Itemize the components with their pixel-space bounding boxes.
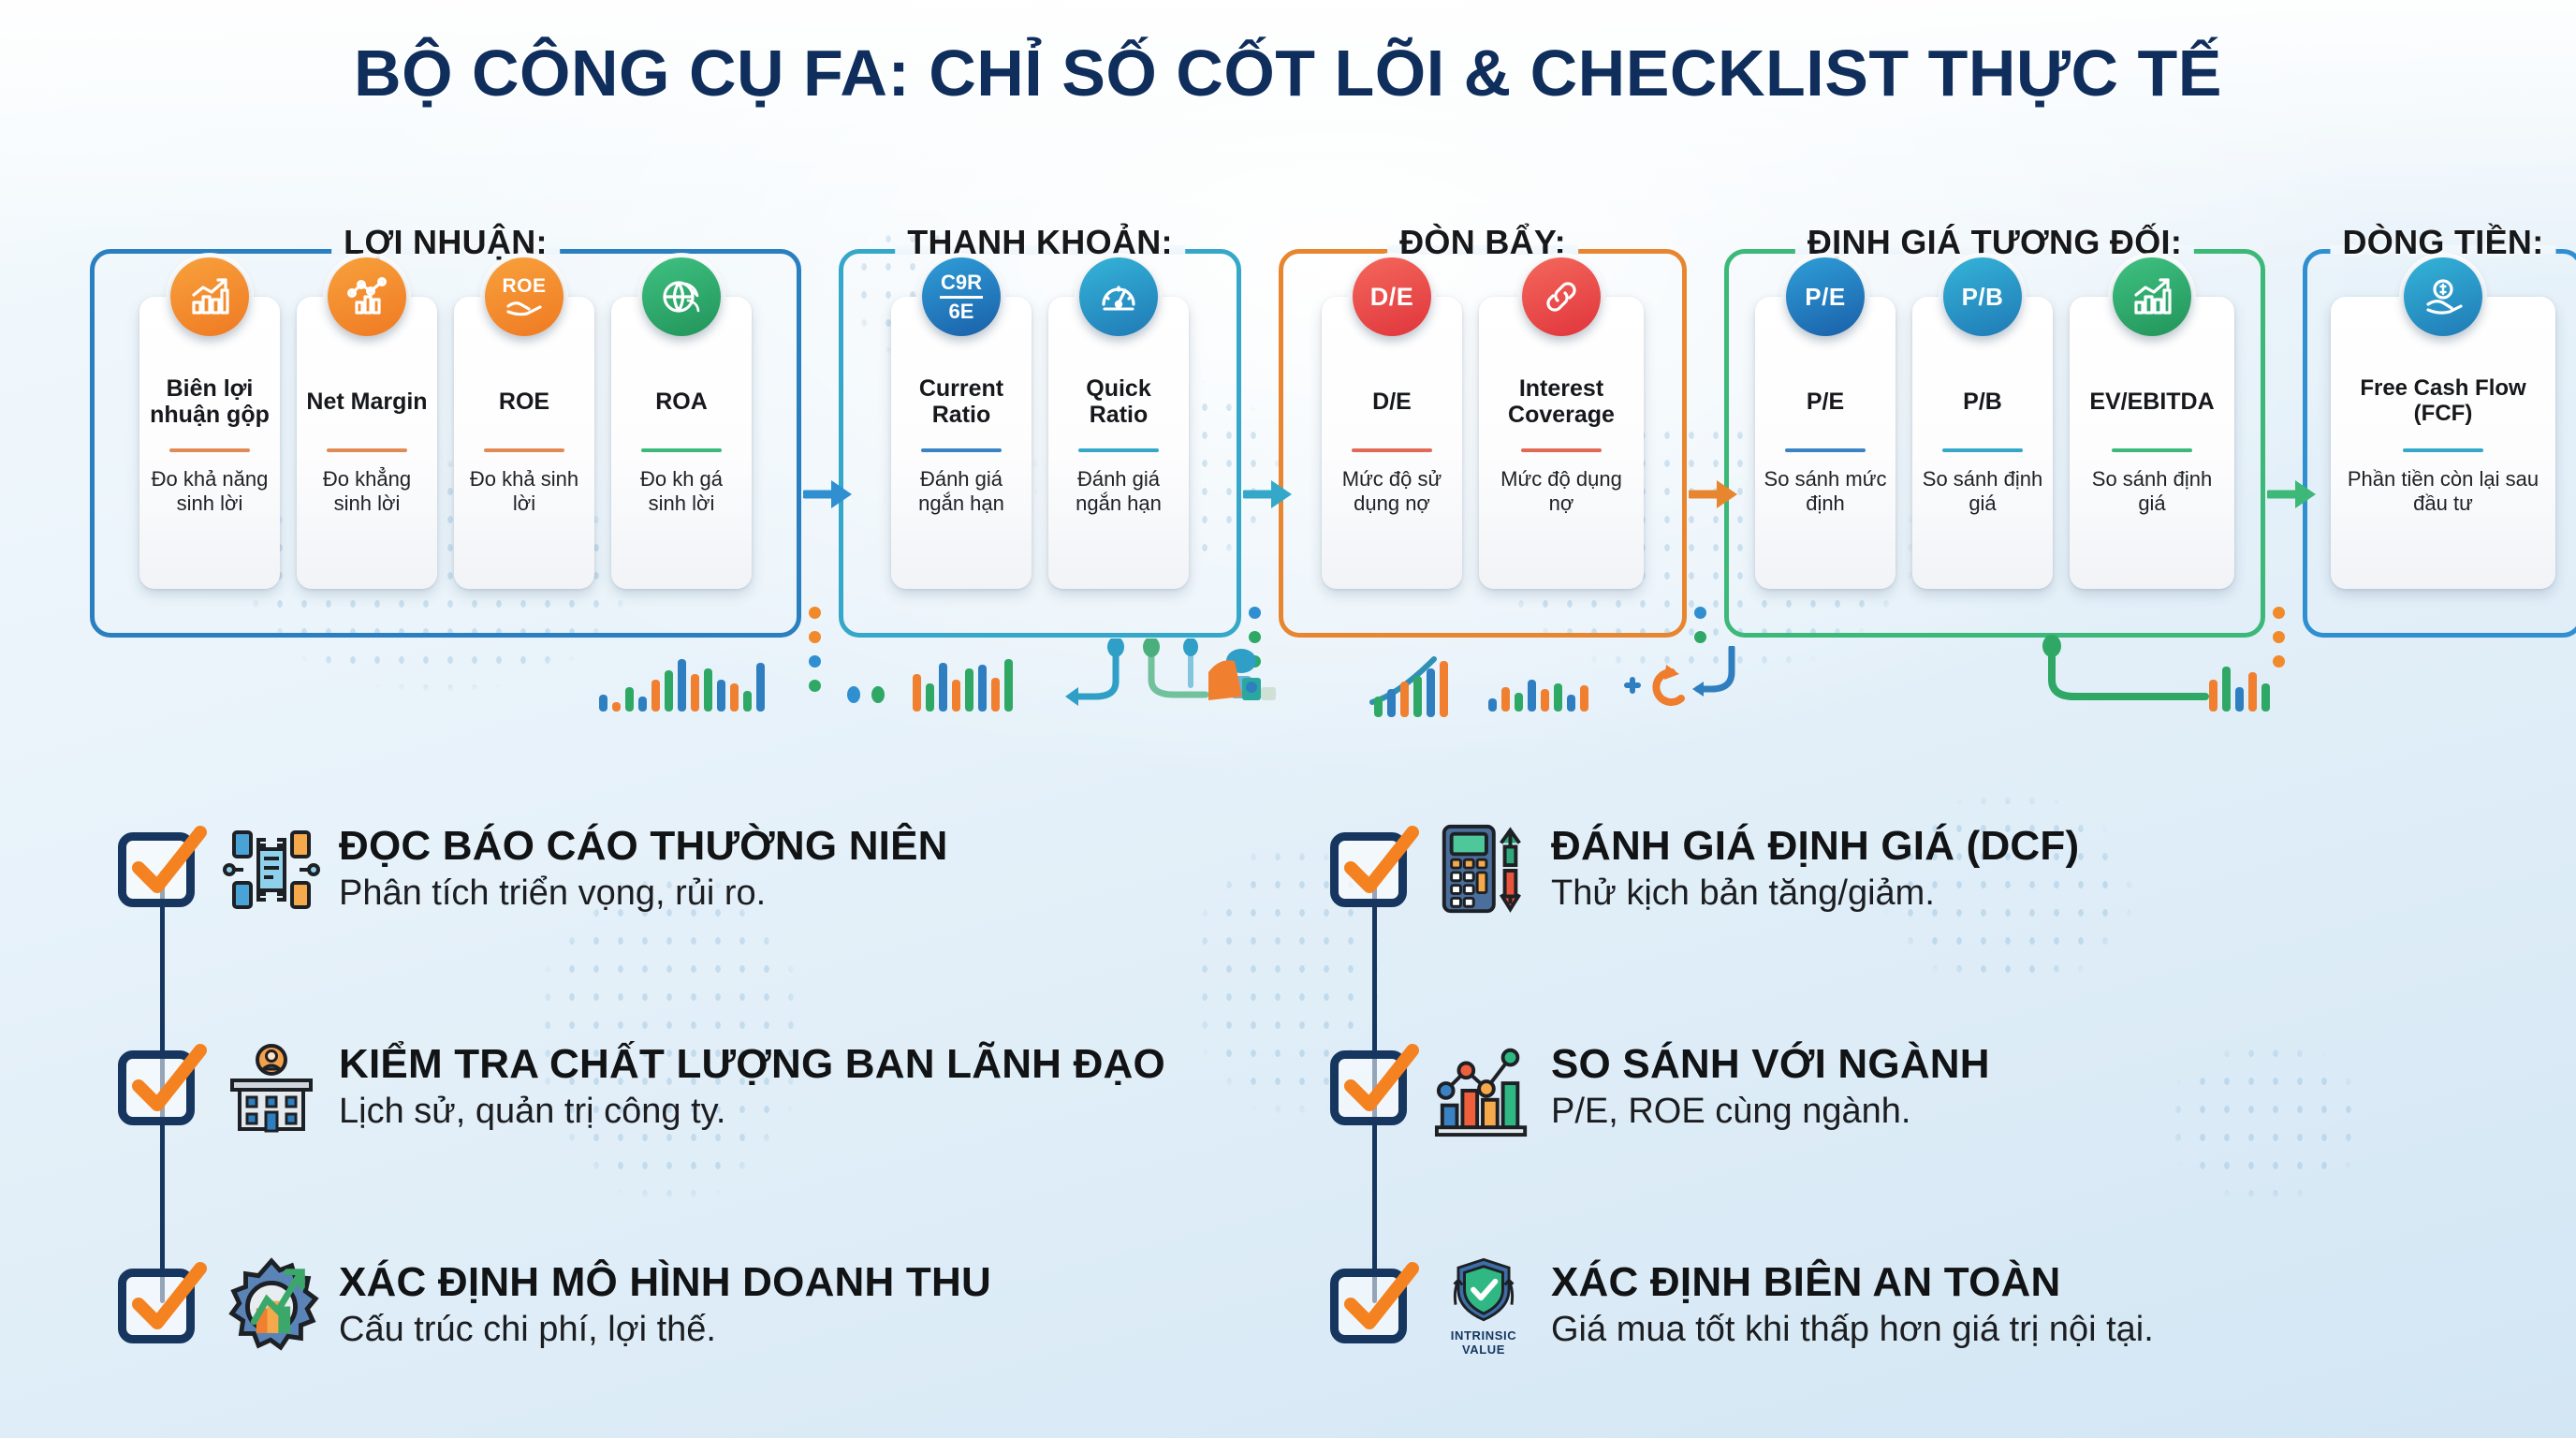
deco-bar <box>1528 680 1536 712</box>
connector-dot <box>809 655 821 668</box>
metric-card-divider <box>1785 448 1866 452</box>
deco-bar <box>756 663 765 712</box>
connector-dot <box>2273 607 2285 619</box>
metric-card-description: Đo kh gá sinh lời <box>611 467 752 517</box>
metric-card[interactable]: Quick RatioĐánh giá ngắn hạn <box>1048 297 1189 589</box>
ratio-formula-icon: C9R 6E <box>922 257 1001 336</box>
deco-bar <box>1501 687 1510 712</box>
metric-group-5: DÒNG TIỀN: Free Cash Flow (FCF)Phần tiền… <box>2303 249 2576 638</box>
deco-bar <box>1554 683 1562 712</box>
checklist-item-title: XÁC ĐỊNH MÔ HÌNH DOANH THU <box>339 1261 991 1304</box>
metric-card-divider <box>921 448 1002 452</box>
checklist-item-subtitle: P/E, ROE cùng ngành. <box>1551 1093 1990 1132</box>
group-connector-arrow <box>1243 476 1294 513</box>
deco-bar <box>1488 698 1497 712</box>
metric-card-description: Đo khả năng sinh lời <box>139 467 280 517</box>
globe-chart-icon <box>642 257 721 336</box>
metric-card-description: Đánh giá ngắn hạn <box>1048 467 1189 517</box>
metric-card-divider <box>2403 448 2483 452</box>
scatter-bar-icon <box>328 257 406 336</box>
deco-bar <box>913 674 921 712</box>
checklist-item-subtitle: Giá mua tốt khi thấp hơn giá trị nội tại… <box>1551 1311 2154 1350</box>
group-connector-arrow <box>803 476 854 513</box>
connector-dot-column <box>1694 607 1706 643</box>
calculator-arrows-icon <box>1433 819 1534 920</box>
check-icon <box>1332 821 1422 911</box>
deco-bar <box>1515 693 1523 712</box>
metric-card[interactable]: Biên lợi nhuận gộpĐo khả năng sinh lời <box>139 297 280 589</box>
connector-dot <box>2273 655 2285 668</box>
checklist-item-title: SO SÁNH VỚI NGÀNH <box>1551 1043 1990 1086</box>
group-title: THANH KHOẢN: <box>901 223 1178 262</box>
metric-card[interactable]: C9R 6ECurrent RatioĐánh giá ngắn hạn <box>891 297 1032 589</box>
deco-bar <box>730 683 739 712</box>
deco-bar <box>717 680 725 712</box>
checklist-text: KIỂM TRA CHẤT LƯỢNG BAN LÃNH ĐẠOLịch sử,… <box>339 1043 1165 1133</box>
group-cards: Biên lợi nhuận gộpĐo khả năng sinh lời N… <box>95 297 797 589</box>
connector-dot-column <box>809 607 821 692</box>
deco-bar <box>704 668 712 712</box>
intrinsic-value-label: INTRINSIC VALUE <box>1433 1328 1534 1357</box>
page-title: BỘ CÔNG CỤ FA: CHỈ SỐ CỐT LÕI & CHECKLIS… <box>0 36 2576 110</box>
connector-dot-column <box>2273 607 2285 668</box>
metric-card-title: Current Ratio <box>891 359 1032 445</box>
deco-bar <box>1413 676 1422 717</box>
metric-card-title: Biên lợi nhuận gộp <box>139 359 280 445</box>
deco-bar <box>1440 661 1448 717</box>
connector-dot <box>809 607 821 619</box>
deco-bar <box>1387 689 1396 717</box>
checklist-column-right: ĐÁNH GIÁ ĐỊNH GIÁ (DCF)Thử kịch bản tăng… <box>1325 760 2481 1416</box>
check-icon <box>120 1257 210 1347</box>
metric-card-description: Phần tiền còn lại sau đầu tư <box>2331 467 2555 517</box>
metric-card-title: P/E <box>1801 359 1850 445</box>
deco-bar <box>691 674 699 712</box>
metric-card-divider <box>641 448 722 452</box>
check-icon <box>120 1039 210 1129</box>
checkbox-checked[interactable] <box>1330 1045 1416 1131</box>
deco-bar <box>1374 697 1383 717</box>
metric-card-description: So sánh mức định <box>1755 467 1895 517</box>
deco-bar <box>1004 659 1013 712</box>
checklist-item-subtitle: Phân tích triển vọng, rủi ro. <box>339 874 948 914</box>
corporate-building-icon <box>221 1037 322 1138</box>
checkbox-checked[interactable] <box>118 1045 204 1131</box>
checklist-text: XÁC ĐỊNH MÔ HÌNH DOANH THUCấu trúc chi p… <box>339 1261 991 1351</box>
group-title: ĐỊNH GIÁ TƯƠNG ĐỐI: <box>1802 223 2188 262</box>
metric-card-divider <box>1521 448 1602 452</box>
cash-hand-icon <box>2404 257 2482 336</box>
checklist-item-subtitle: Thử kịch bản tăng/giảm. <box>1551 874 2079 914</box>
metric-card-description: Đánh giá ngắn hạn <box>891 467 1032 517</box>
deco-bar <box>1400 682 1409 717</box>
deco-bar <box>939 663 947 712</box>
shield-check-icon: INTRINSIC VALUE <box>1433 1255 1534 1357</box>
checklist-item[interactable]: ĐỌC BÁO CÁO THƯỜNG NIÊNPhân tích triển v… <box>112 760 1268 978</box>
deco-bar <box>2261 683 2270 712</box>
connector-dot <box>809 631 821 643</box>
group-cards: P/EP/ESo sánh mức địnhP/BP/BSo sánh định… <box>1729 297 2261 589</box>
bar-growth-icon <box>170 257 249 336</box>
deco-bar <box>625 687 634 712</box>
metric-card-divider <box>1942 448 2023 452</box>
checklist-item-subtitle: Lịch sử, quản trị công ty. <box>339 1093 1165 1132</box>
checklist-item[interactable]: XÁC ĐỊNH MÔ HÌNH DOANH THUCấu trúc chi p… <box>112 1196 1268 1415</box>
metric-card-title: P/B <box>1957 359 2008 445</box>
bar-growth-icon <box>2113 257 2191 336</box>
check-icon <box>1332 1039 1422 1129</box>
checklist-text: ĐÁNH GIÁ ĐỊNH GIÁ (DCF)Thử kịch bản tăng… <box>1551 825 2079 915</box>
connector-dot <box>809 680 821 692</box>
metric-card-divider <box>327 448 407 452</box>
checklist-column-left: ĐỌC BÁO CÁO THƯỜNG NIÊNPhân tích triển v… <box>112 760 1268 1416</box>
deco-bar <box>743 691 752 712</box>
checklist-item-title: ĐÁNH GIÁ ĐỊNH GIÁ (DCF) <box>1551 825 2079 868</box>
metric-card-title: Net Margin <box>300 359 432 445</box>
checklist-item[interactable]: KIỂM TRA CHẤT LƯỢNG BAN LÃNH ĐẠOLịch sử,… <box>112 978 1268 1196</box>
deco-bar <box>1427 668 1435 717</box>
metric-card-divider <box>169 448 250 452</box>
metric-card-description: Mức độ sử dụng nợ <box>1322 467 1462 517</box>
deco-bar <box>991 678 1000 712</box>
deco-bar <box>678 659 686 712</box>
deco-bar <box>2248 672 2257 712</box>
group-connector-arrow <box>2267 476 2318 513</box>
gear-growth-icon <box>221 1255 322 1357</box>
bar-line-compare-icon <box>1433 1037 1534 1138</box>
deco-bar <box>665 670 673 712</box>
metric-group-1: LỢI NHUẬN: Biên lợi nhuận gộpĐo khả năng… <box>90 249 801 638</box>
metric-card-title: D/E <box>1367 359 1417 445</box>
deco-bars-2 <box>913 655 1013 712</box>
metric-card-title: Free Cash Flow (FCF) <box>2331 359 2555 445</box>
roe-hand-icon: ROE <box>485 257 563 336</box>
connector-dot <box>1249 607 1261 619</box>
metric-card-divider <box>1078 448 1159 452</box>
checklist-item-title: XÁC ĐỊNH BIÊN AN TOÀN <box>1551 1261 2154 1304</box>
checklist-item[interactable]: INTRINSIC VALUEXÁC ĐỊNH BIÊN AN TOÀNGiá … <box>1325 1196 2481 1415</box>
document-network-icon <box>221 819 322 920</box>
metric-card[interactable]: P/BP/BSo sánh định giá <box>1912 297 2053 589</box>
checklist-text: XÁC ĐỊNH BIÊN AN TOÀNGiá mua tốt khi thấ… <box>1551 1261 2154 1351</box>
deco-bar <box>965 668 973 712</box>
deco-bars-1 <box>599 655 765 712</box>
metric-group-2: THANH KHOẢN: C9R 6ECurrent RatioĐánh giá… <box>839 249 1241 638</box>
group-title: DÒNG TIỀN: <box>2337 223 2550 262</box>
connector-dot <box>2273 631 2285 643</box>
metric-groups-row: LỢI NHUẬN: Biên lợi nhuận gộpĐo khả năng… <box>90 225 2492 637</box>
check-icon <box>120 821 210 911</box>
infographic-canvas: BỘ CÔNG CỤ FA: CHỈ SỐ CỐT LÕI & CHECKLIS… <box>0 0 2576 1438</box>
group-cards: D/ED/EMức độ sử dụng nợ Interest Coverag… <box>1283 297 1682 589</box>
checklist-item[interactable]: SO SÁNH VỚI NGÀNHP/E, ROE cùng ngành. <box>1325 978 2481 1196</box>
deco-bar <box>978 665 987 712</box>
metric-group-4: ĐỊNH GIÁ TƯƠNG ĐỐI:P/EP/ESo sánh mức địn… <box>1724 249 2265 638</box>
deco-bars-5 <box>2022 655 2270 712</box>
metric-card-description: Đo khả sinh lời <box>454 467 594 517</box>
metric-card-description: So sánh định giá <box>1912 467 2053 517</box>
checklist-item-subtitle: Cấu trúc chi phí, lợi thế. <box>339 1311 991 1350</box>
checklist-item-title: KIỂM TRA CHẤT LƯỢNG BAN LÃNH ĐẠO <box>339 1043 1165 1086</box>
deco-bar <box>638 697 647 712</box>
metric-card[interactable]: Net MarginĐo khẳng sinh lời <box>297 297 437 589</box>
metric-card[interactable]: ROE ROEĐo khả sinh lời <box>454 297 594 589</box>
metric-card-divider <box>2112 448 2192 452</box>
group-connector-arrow <box>1689 476 1739 513</box>
checklist-section: ĐỌC BÁO CÁO THƯỜNG NIÊNPhân tích triển v… <box>112 760 2481 1416</box>
connector-dot <box>1694 607 1706 619</box>
metric-card-title: ROA <box>650 359 713 445</box>
checkbox-checked[interactable] <box>118 1263 204 1349</box>
deco-bars-4 <box>1488 655 1588 712</box>
checkbox-checked[interactable] <box>118 827 204 913</box>
metric-card[interactable]: Interest CoverageMức độ dụng nợ <box>1479 297 1644 589</box>
group-cards: Free Cash Flow (FCF)Phần tiền còn lại sa… <box>2307 297 2576 589</box>
metric-card[interactable]: ROAĐo kh gá sinh lời <box>611 297 752 589</box>
connector-dot <box>1694 631 1706 643</box>
deco-bar <box>1567 695 1575 712</box>
checklist-item[interactable]: ĐÁNH GIÁ ĐỊNH GIÁ (DCF)Thử kịch bản tăng… <box>1325 760 2481 978</box>
metric-card-divider <box>1352 448 1432 452</box>
metric-card-description: Mức độ dụng nợ <box>1479 467 1644 517</box>
checklist-item-title: ĐỌC BÁO CÁO THƯỜNG NIÊN <box>339 825 948 868</box>
metric-card-title: ROE <box>493 359 555 445</box>
metric-card-title: EV/EBITDA <box>2084 359 2219 445</box>
deco-cluster-icon <box>1193 646 1296 716</box>
deco-bar <box>651 680 660 712</box>
metric-card-description: Đo khẳng sinh lời <box>297 467 437 517</box>
deco-dots-1 <box>842 655 908 716</box>
metric-card-description: So sánh định giá <box>2070 467 2234 517</box>
metric-card-title: Interest Coverage <box>1479 359 1644 445</box>
deco-bar <box>2209 680 2217 712</box>
metric-card[interactable]: P/EP/ESo sánh mức định <box>1755 297 1895 589</box>
deco-bar <box>1580 685 1588 712</box>
deco-bar <box>599 695 607 712</box>
checklist-text: SO SÁNH VỚI NGÀNHP/E, ROE cùng ngành. <box>1551 1043 1990 1133</box>
checklist-text: ĐỌC BÁO CÁO THƯỜNG NIÊNPhân tích triển v… <box>339 825 948 915</box>
deco-bar <box>2222 667 2231 712</box>
metric-card-divider <box>484 448 564 452</box>
metric-card[interactable]: EV/EBITDASo sánh định giá <box>2070 297 2234 589</box>
pe-icon: P/E <box>1786 257 1865 336</box>
metric-card[interactable]: D/ED/EMức độ sử dụng nợ <box>1322 297 1462 589</box>
deco-refresh-icon <box>1619 646 1750 722</box>
check-icon <box>1332 1257 1422 1347</box>
checkbox-checked[interactable] <box>1330 1263 1416 1349</box>
metric-card[interactable]: Free Cash Flow (FCF)Phần tiền còn lại sa… <box>2331 297 2555 589</box>
deco-bar <box>2235 687 2244 712</box>
pb-icon: P/B <box>1943 257 2022 336</box>
deco-bar <box>926 683 934 712</box>
metric-card-title: Quick Ratio <box>1048 359 1189 445</box>
deco-bar <box>612 702 621 712</box>
checkbox-checked[interactable] <box>1330 827 1416 913</box>
chain-link-icon <box>1522 257 1601 336</box>
de-ratio-icon: D/E <box>1353 257 1431 336</box>
deco-bars-3 <box>1367 646 1456 716</box>
deco-bar <box>1541 689 1549 712</box>
metric-group-3: ĐÒN BẨY:D/ED/EMức độ sử dụng nợ Interest… <box>1279 249 1687 638</box>
group-title: LỢI NHUẬN: <box>338 223 553 262</box>
group-title: ĐÒN BẨY: <box>1394 223 1572 262</box>
deco-bar <box>952 680 960 712</box>
gauge-icon <box>1079 257 1158 336</box>
group-cards: C9R 6ECurrent RatioĐánh giá ngắn hạn Qui… <box>843 297 1237 589</box>
